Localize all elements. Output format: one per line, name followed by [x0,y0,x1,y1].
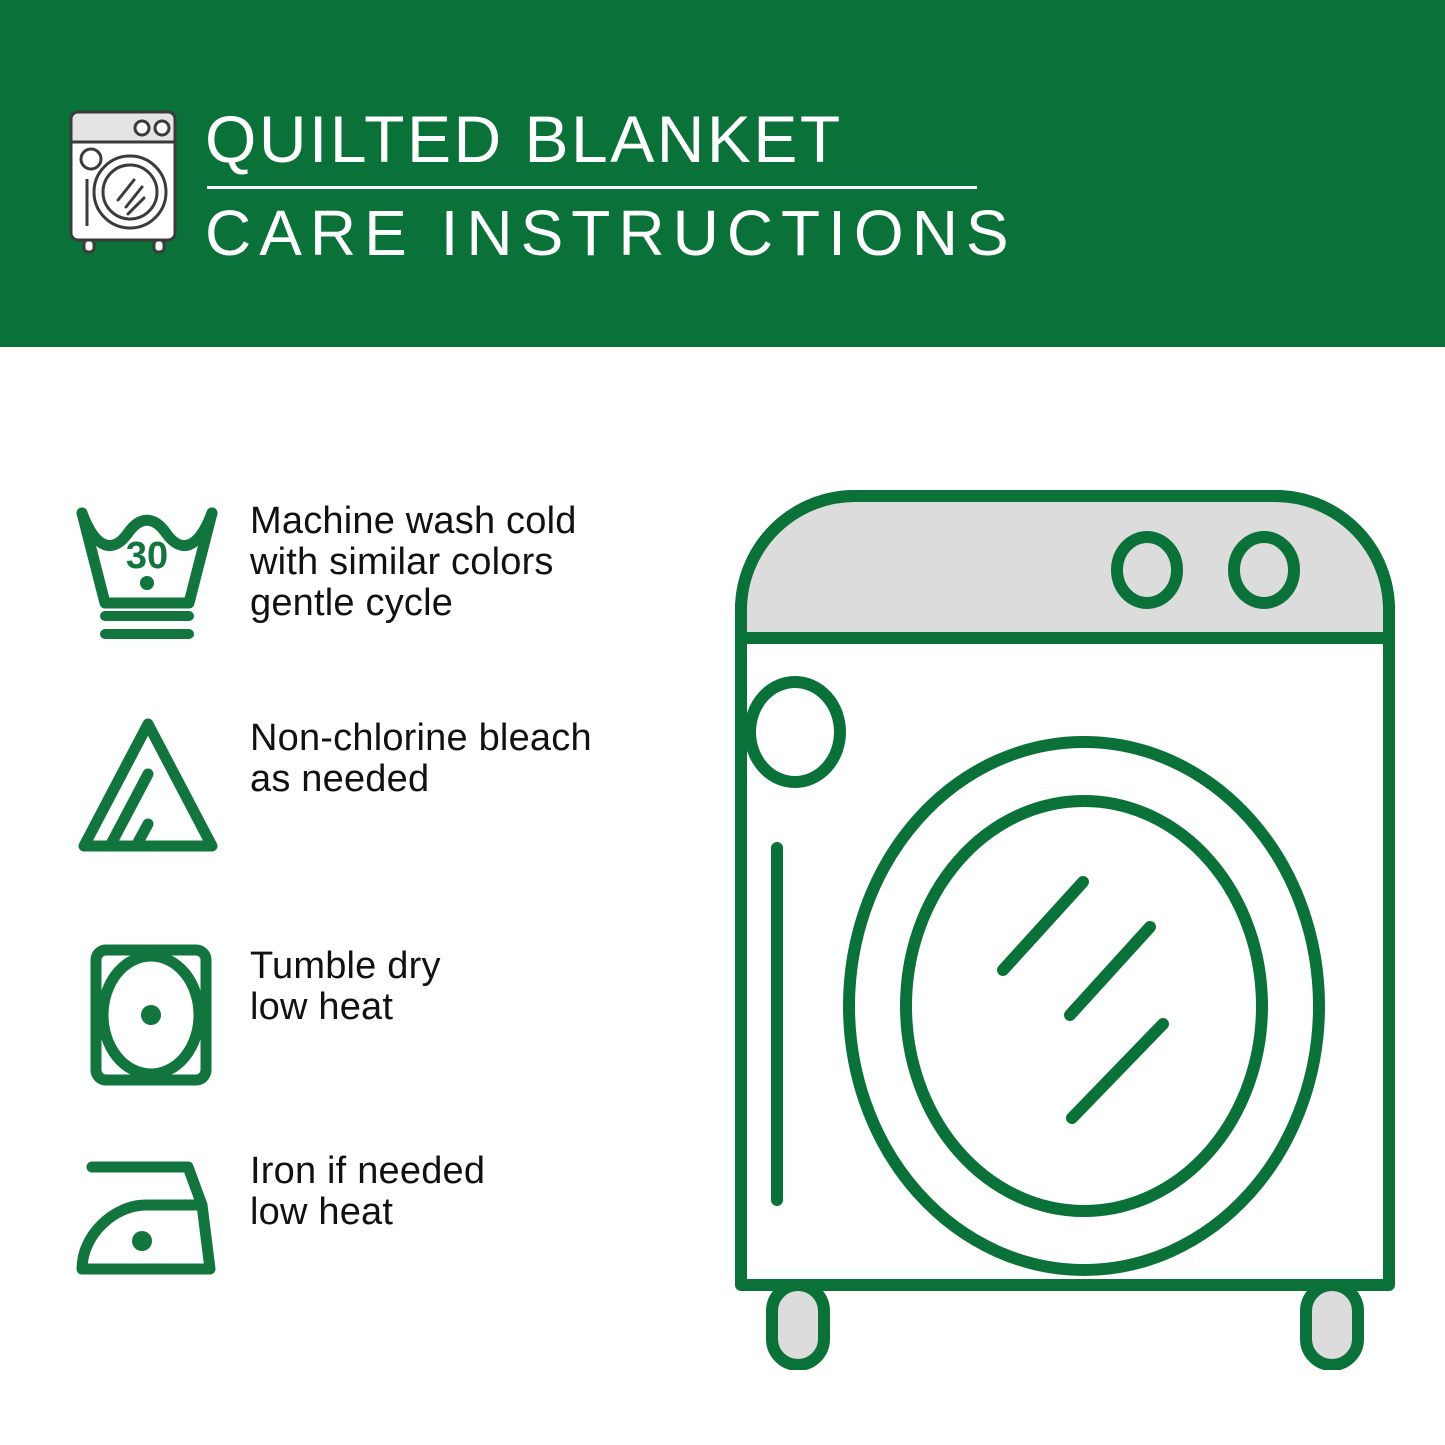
care-row-machine-wash: 30 Machine wash cold with similar colors… [70,495,690,645]
leg-right [1306,1285,1358,1365]
care-row-bleach: Non-chlorine bleach as needed [70,712,690,862]
front-load-washing-machine-illustration [715,470,1415,1370]
care-label-iron: Iron if needed low heat [250,1145,485,1233]
knob-right [1234,537,1294,603]
header-text-block: QUILTED BLANKET CARE INSTRUCTIONS [205,100,995,271]
leg-left [772,1285,824,1365]
wash-temperature-value: 30 [126,535,168,577]
care-label-tumble-dry: Tumble dry low heat [250,940,441,1028]
header-band: QUILTED BLANKET CARE INSTRUCTIONS [0,0,1445,347]
care-label-bleach: Non-chlorine bleach as needed [250,712,592,800]
non-chlorine-bleach-triangle-icon [70,712,230,862]
knob-left [1117,537,1177,603]
wash-basin-30-gentle-icon: 30 [70,495,230,645]
care-row-tumble-dry: Tumble dry low heat [70,940,690,1090]
care-instructions-infographic: QUILTED BLANKET CARE INSTRUCTIONS 30 [0,0,1445,1445]
detergent-drawer-circle [750,682,840,782]
page-subtitle: CARE INSTRUCTIONS [205,195,995,271]
care-row-iron: Iron if needed low heat [70,1145,690,1295]
tumble-dry-low-heat-icon [70,940,230,1090]
iron-low-heat-icon [70,1145,230,1295]
care-label-machine-wash: Machine wash cold with similar colors ge… [250,495,577,624]
washing-machine-logo-icon [64,104,186,254]
title-divider [207,186,977,189]
page-title: QUILTED BLANKET [205,100,995,178]
